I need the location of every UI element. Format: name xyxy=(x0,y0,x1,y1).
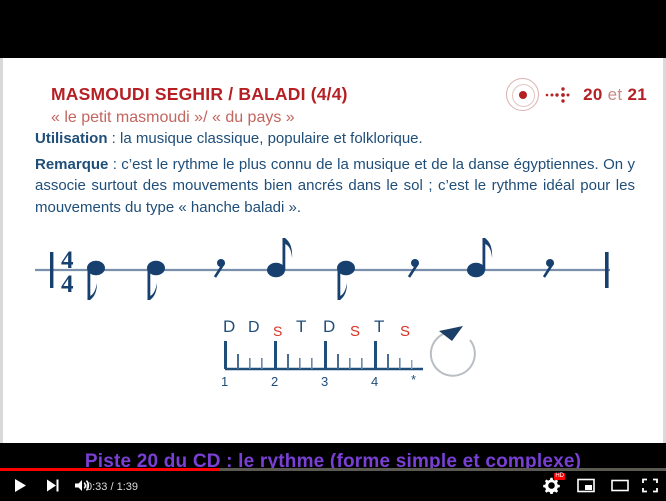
rhythm-svg: D D S T D S T S xyxy=(211,314,511,396)
next-button[interactable] xyxy=(40,473,64,497)
rest-eighth xyxy=(409,259,419,277)
sub-tick xyxy=(287,354,289,369)
note-eighth-down xyxy=(337,261,355,300)
beat-label-3: 3 xyxy=(321,374,328,389)
rest-eighth xyxy=(544,259,554,277)
rest-eighth xyxy=(215,259,225,277)
sub-tick xyxy=(311,358,313,369)
sub-tick xyxy=(237,354,239,369)
miniplayer-icon xyxy=(577,478,595,493)
paragraph-utilisation: Utilisation : la musique classique, popu… xyxy=(35,128,635,150)
time-display: 0:33 / 1:39 xyxy=(86,481,138,493)
sub-tick xyxy=(261,358,263,369)
beat-label-star: * xyxy=(411,372,416,387)
fullscreen-icon xyxy=(642,478,658,493)
note-eighth-up xyxy=(467,238,492,277)
barline xyxy=(50,252,53,288)
play-button[interactable] xyxy=(8,473,32,497)
cd-track-conjunction: et xyxy=(608,85,623,104)
page-subtitle: « le petit masmoudi »/ « du pays » xyxy=(51,109,295,127)
sound-wave-icon xyxy=(544,84,578,106)
beat-tick xyxy=(224,341,227,369)
stroke-label-7: S xyxy=(400,323,410,340)
page-title: MASMOUDI SEGHIR / BALADI (4/4) xyxy=(51,84,348,105)
next-icon xyxy=(45,478,60,493)
control-button-row: 0:33 / 1:39 HD xyxy=(0,471,666,501)
time-signature-bottom: 4 xyxy=(61,271,74,298)
stroke-label-6: T xyxy=(374,317,384,336)
paragraph-text: : la musique classique, populaire et fol… xyxy=(108,130,423,147)
cd-disc-icon xyxy=(506,78,539,111)
staff-svg: 4 4 xyxy=(25,230,625,308)
stroke-label-0: D xyxy=(223,317,235,336)
paragraph-lead: Remarque xyxy=(35,156,108,173)
play-icon xyxy=(13,478,28,493)
letterbox-top xyxy=(0,0,666,58)
paragraph-lead: Utilisation xyxy=(35,130,108,147)
cd-track-number-2: 21 xyxy=(627,85,647,104)
loop-arrow-icon xyxy=(431,326,475,376)
paragraph-text: : c’est le rythme le plus connu de la mu… xyxy=(35,156,635,216)
sub-tick xyxy=(337,354,339,369)
cd-track-number-1: 20 xyxy=(583,85,603,104)
note-eighth-down xyxy=(147,261,165,300)
fullscreen-button[interactable] xyxy=(638,473,662,497)
sub-tick xyxy=(361,358,363,369)
cd-track-badge: 20 et 21 xyxy=(506,78,647,111)
beat-label-1: 1 xyxy=(221,374,228,389)
sub-tick xyxy=(399,358,401,369)
miniplayer-button[interactable] xyxy=(574,473,598,497)
stroke-label-4: D xyxy=(323,317,335,336)
theater-icon xyxy=(611,478,629,493)
settings-hd-badge: HD xyxy=(554,473,565,480)
stroke-label-2: S xyxy=(273,323,282,339)
sub-tick xyxy=(387,354,389,369)
beat-tick xyxy=(374,341,377,369)
note-eighth-down xyxy=(87,261,105,300)
sub-tick xyxy=(411,360,412,369)
slide-content: MASMOUDI SEGHIR / BALADI (4/4) « le peti… xyxy=(0,58,666,443)
rhythm-diagram: D D S T D S T S xyxy=(11,314,655,396)
video-player[interactable]: MASMOUDI SEGHIR / BALADI (4/4) « le peti… xyxy=(0,0,666,501)
slide-header: MASMOUDI SEGHIR / BALADI (4/4) « le peti… xyxy=(11,62,655,118)
theater-button[interactable] xyxy=(608,473,632,497)
barline-end xyxy=(605,252,609,288)
beat-label-2: 2 xyxy=(271,374,278,389)
time-signature-top: 4 xyxy=(61,247,74,274)
beat-tick xyxy=(274,341,277,369)
sub-tick xyxy=(249,358,251,369)
player-controls[interactable]: Piste 20 du CD : le rythme (forme simple… xyxy=(0,443,666,501)
beat-tick xyxy=(324,341,327,369)
stroke-label-1: D xyxy=(248,319,260,336)
stroke-label-3: T xyxy=(296,317,306,336)
paragraph-remarque: Remarque : c’est le rythme le plus connu… xyxy=(35,154,635,219)
sub-tick xyxy=(349,358,351,369)
sub-tick xyxy=(299,358,301,369)
music-staff: 4 4 xyxy=(11,230,655,308)
stroke-label-5: S xyxy=(350,323,360,340)
cd-track-numbers: 20 et 21 xyxy=(583,85,647,105)
beat-label-4: 4 xyxy=(371,374,378,389)
settings-button[interactable]: HD xyxy=(539,473,563,497)
note-eighth-up xyxy=(267,238,292,277)
slide-body: Utilisation : la musique classique, popu… xyxy=(35,128,635,218)
